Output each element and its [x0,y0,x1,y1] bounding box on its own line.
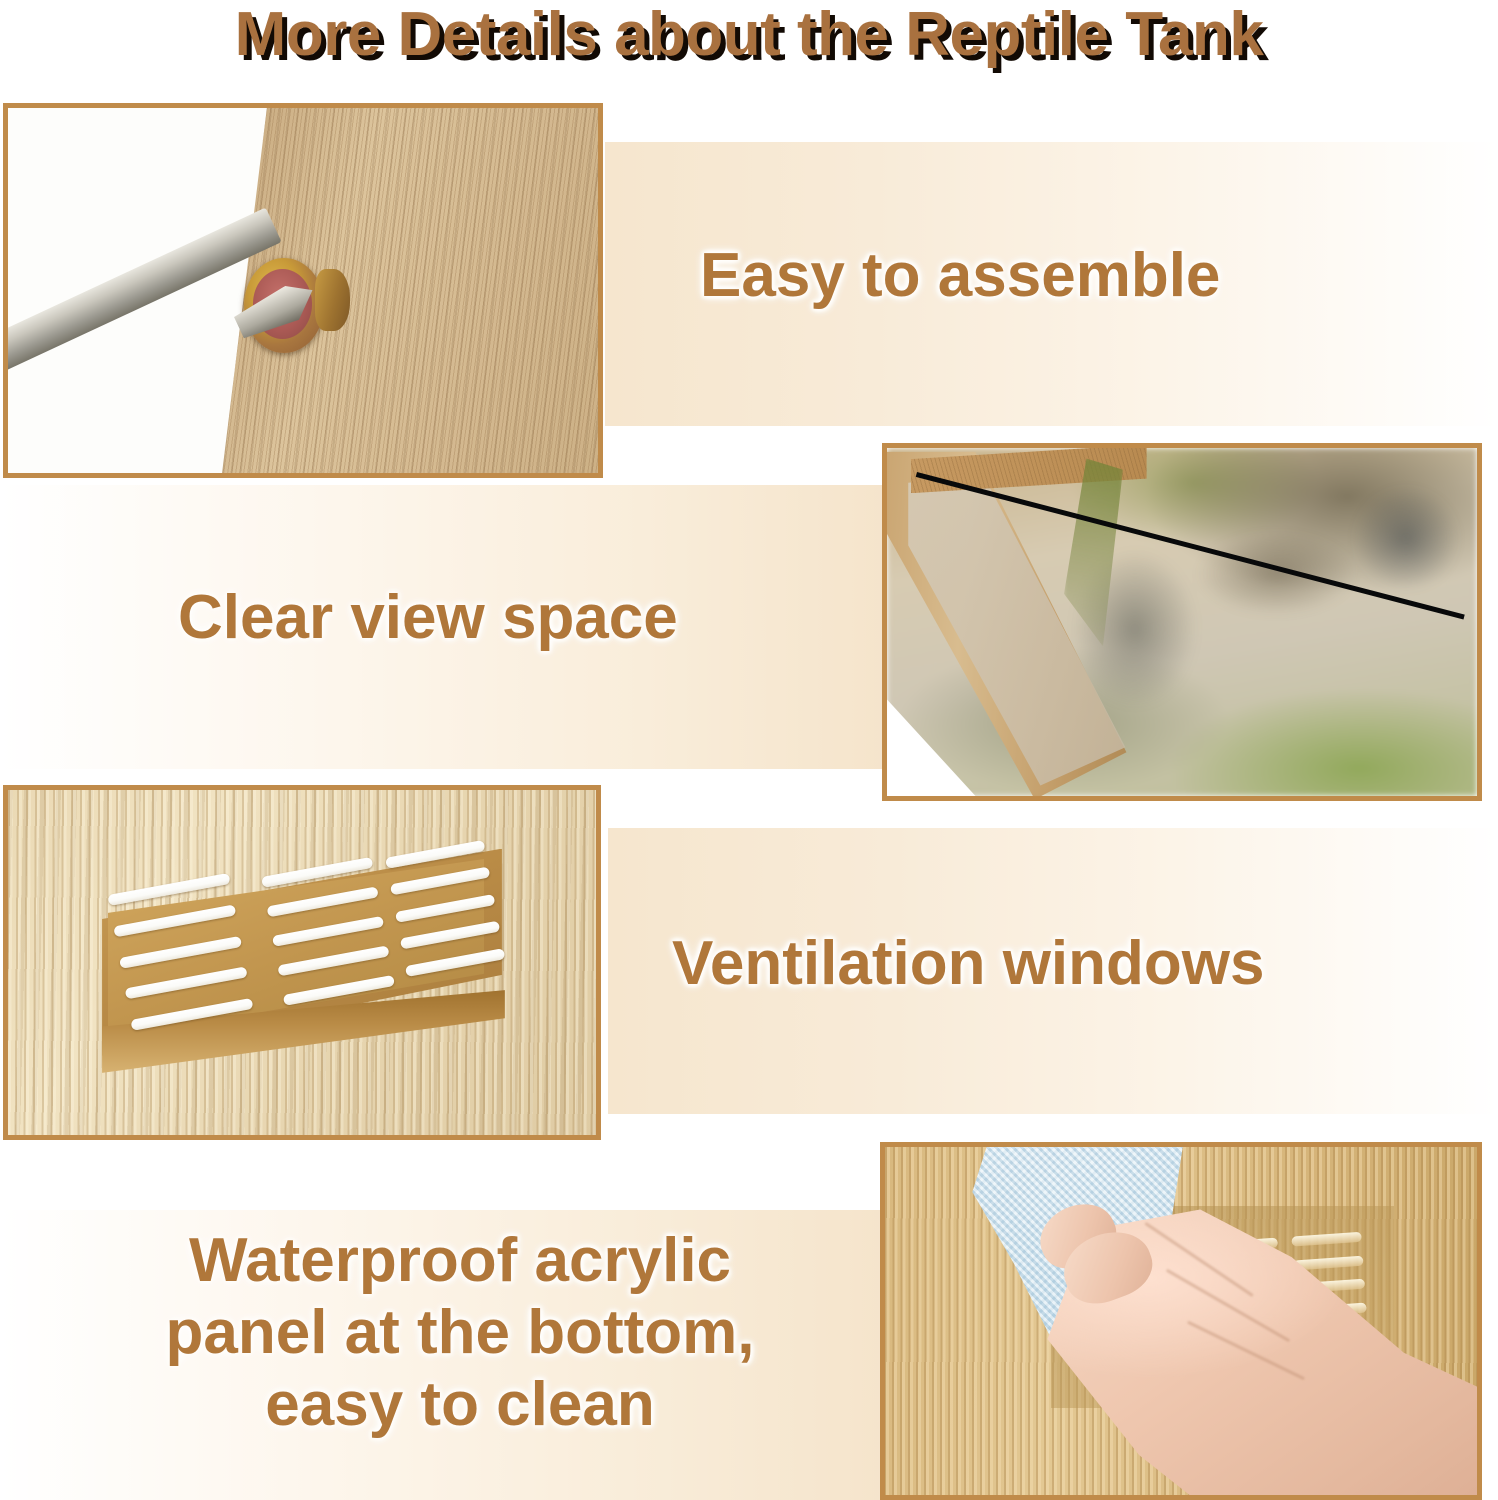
feature-photo-clear-view-space [882,443,1482,801]
vent-slot [390,867,490,896]
vent-slot [395,894,495,923]
feature-caption-ventilation-windows: Ventilation windows [672,928,1264,999]
vent-slot [266,887,378,918]
feature-caption-waterproof-acrylic-panel: Waterproof acrylic panel at the bottom, … [80,1225,840,1441]
feature-photo-easy-to-assemble [3,103,603,478]
vent-slot [124,966,247,999]
vent-slot [277,946,389,977]
vent-slot-group-2 [261,857,395,1006]
caption-line: panel at the bottom, [80,1297,840,1369]
caption-line: Waterproof acrylic [80,1225,840,1297]
vent-slot [400,921,500,950]
vent-slot [113,904,236,937]
feature-caption-clear-view-space: Clear view space [178,582,678,653]
vent-slot-group-1 [107,872,253,1030]
screw-shank-graphic [315,269,350,331]
caption-line: easy to clean [80,1369,840,1441]
vent-slot [119,935,242,968]
feature-photo-waterproof-acrylic-panel [880,1142,1482,1500]
feature-photo-ventilation-windows [3,785,601,1140]
page-title: More Details about the Reptile Tank [0,2,1498,69]
vent-slot-group-3 [385,840,505,977]
feature-caption-easy-to-assemble: Easy to assemble [700,240,1220,311]
vent-slot [272,916,384,947]
